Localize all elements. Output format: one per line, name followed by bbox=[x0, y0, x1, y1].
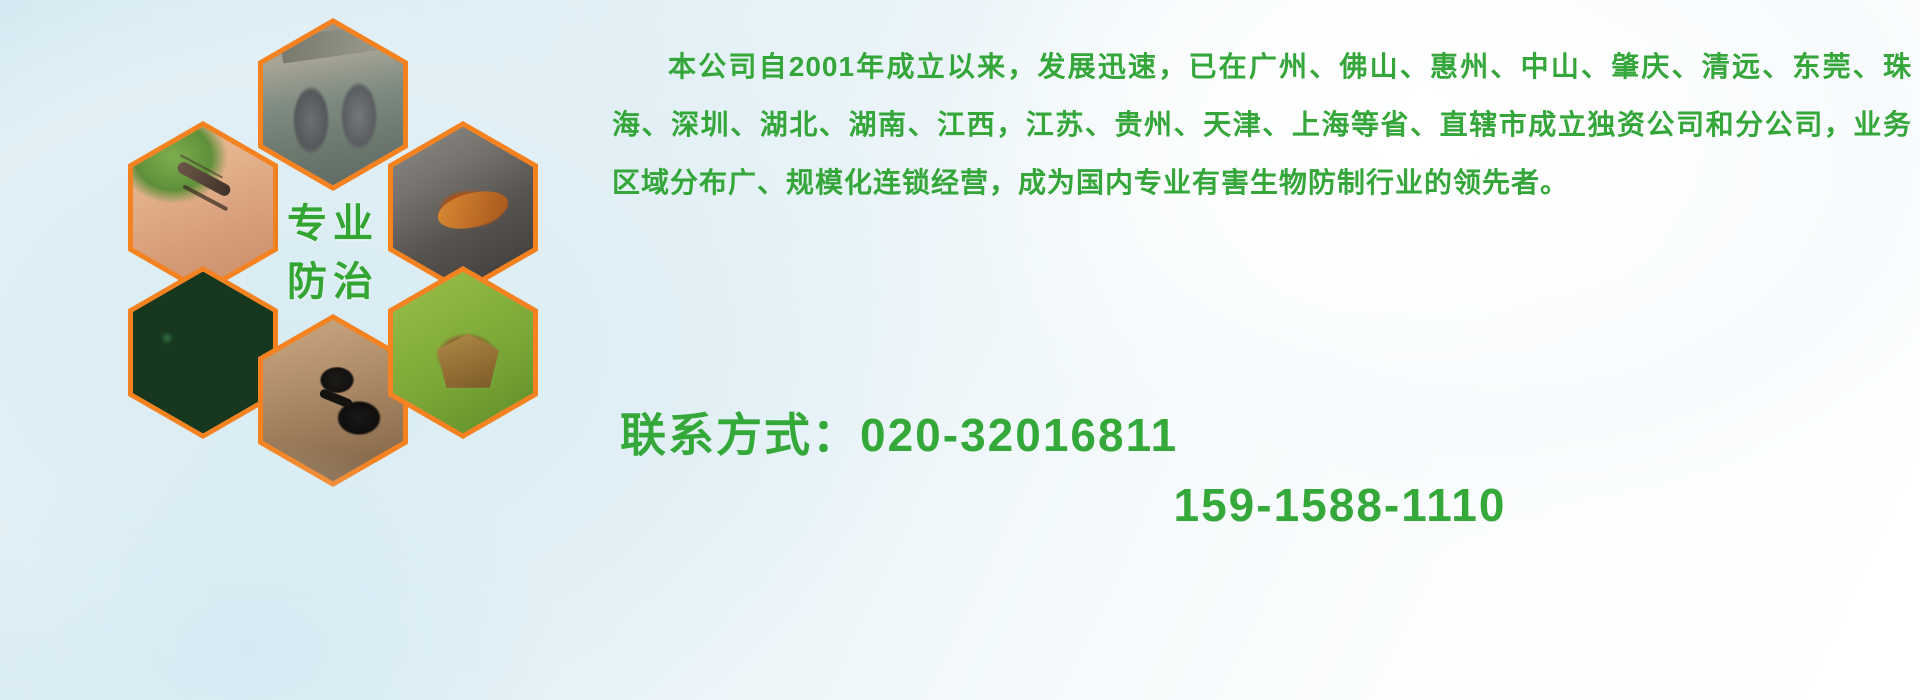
contact-primary-line: 联系方式：020-32016811 bbox=[620, 400, 1910, 470]
hex-tile-stinkbug-photo bbox=[388, 266, 538, 439]
company-intro: 本公司自2001年成立以来，发展迅速，已在广州、佛山、惠州、中山、肇庆、清远、东… bbox=[612, 38, 1912, 212]
mosquito-photo bbox=[133, 127, 273, 288]
cockroach-photo bbox=[393, 127, 533, 288]
hex-tile-flies-photo-inner bbox=[133, 272, 273, 433]
flies-photo bbox=[133, 272, 273, 433]
stinkbug-photo bbox=[393, 272, 533, 433]
hex-tile-ant-photo bbox=[258, 314, 408, 487]
hex-tile-cockroach-photo-inner bbox=[393, 127, 533, 288]
hex-tile-rats-photo-inner bbox=[263, 24, 403, 185]
contact-phone-secondary[interactable]: 159-1588-1110 bbox=[620, 470, 1910, 540]
contact-label: 联系方式： bbox=[620, 409, 860, 461]
hex-tile-flies-photo bbox=[128, 266, 278, 439]
hexagon-image-cluster: 专业 防治 bbox=[90, 18, 590, 563]
hex-tile-center-label: 专业 防治 bbox=[258, 166, 408, 339]
hex-tile-stinkbug-photo-inner bbox=[393, 272, 533, 433]
contact-phone-primary[interactable]: 020-32016811 bbox=[860, 409, 1178, 461]
ant-photo bbox=[263, 320, 403, 481]
rats-photo bbox=[263, 24, 403, 185]
promo-banner: 专业 防治 本公司自2001年成立以来，发展迅速，已在广州、佛山、惠州、中山、肇… bbox=[0, 0, 1920, 700]
hex-tile-rats-photo bbox=[258, 18, 408, 191]
contact-block: 联系方式：020-32016811 159-1588-1110 bbox=[620, 400, 1910, 540]
center-slogan-line-2: 防治 bbox=[287, 253, 379, 311]
center-slogan-line-1: 专业 bbox=[287, 195, 379, 253]
center-slogan: 专业 防治 bbox=[258, 166, 408, 339]
company-intro-paragraph: 本公司自2001年成立以来，发展迅速，已在广州、佛山、惠州、中山、肇庆、清远、东… bbox=[612, 38, 1912, 212]
hex-tile-ant-photo-inner bbox=[263, 320, 403, 481]
hex-tile-mosquito-photo-inner bbox=[133, 127, 273, 288]
